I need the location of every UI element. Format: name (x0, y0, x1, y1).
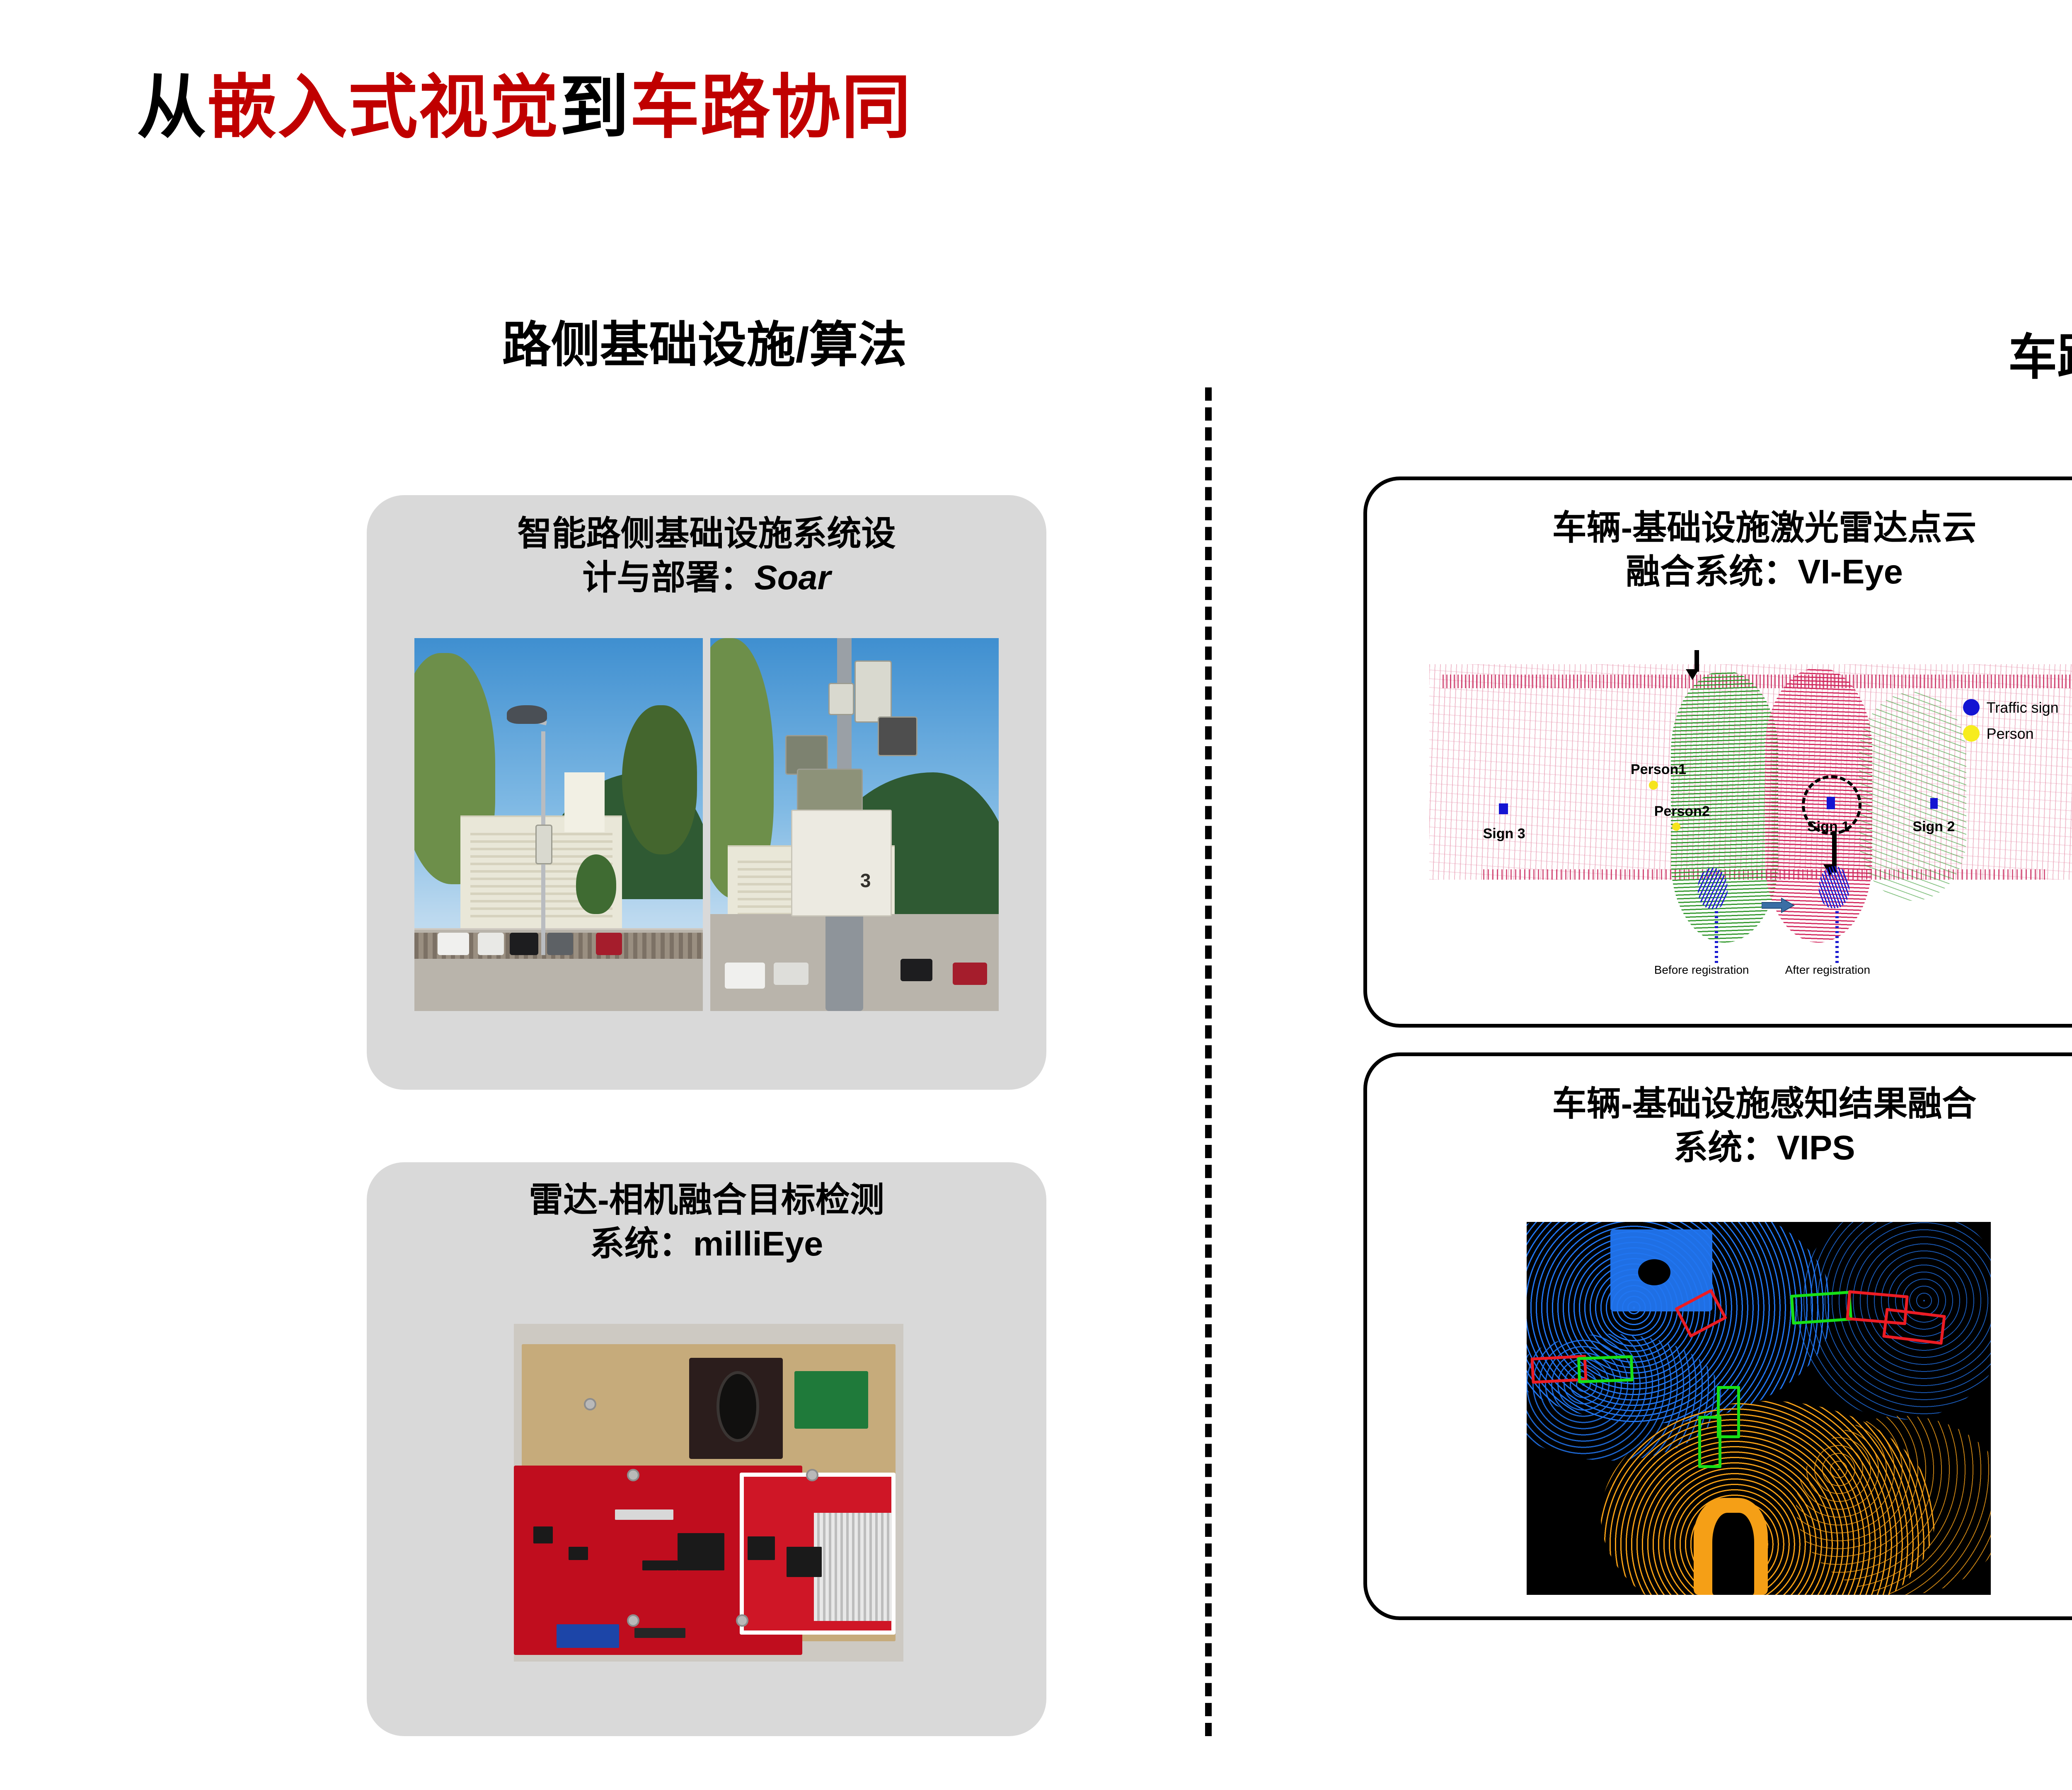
title-part-0: 从 (137, 68, 207, 146)
card-vips[interactable]: 车辆-基础设施感知结果融合 系统：VIPS (1363, 1052, 2072, 1620)
person1-marker (1649, 781, 1658, 790)
card-vips-title-line2: 系统：VIPS (1396, 1126, 2072, 1170)
sign3-marker (1499, 803, 1508, 814)
fused-lidar-detection-figure (1527, 1222, 1991, 1595)
roadside-infrastructure-photos: 3 (414, 638, 999, 1011)
registration-arrow-icon (1762, 897, 1795, 916)
legend-person-dot (1963, 725, 1980, 742)
caption-after-registration: After registration (1785, 963, 1870, 977)
card-vi-eye-title-line1: 车辆-基础设施激光雷达点云 (1396, 506, 2072, 550)
column-divider (1205, 387, 1212, 1736)
card-millieye-title-line1: 雷达-相机融合目标检测 (392, 1178, 1021, 1222)
card-vips-title: 车辆-基础设施感知结果融合 系统：VIPS (1367, 1056, 2072, 1170)
card-millieye-title: 雷达-相机融合目标检测 系统：milliEye (367, 1162, 1046, 1266)
card-vips-system-name: VIPS (1777, 1128, 1855, 1167)
right-column-heading: 车路协同系统 (1782, 327, 2072, 389)
label-person1: Person1 (1631, 762, 1686, 778)
card-millieye-title-line2: 系统：milliEye (392, 1222, 1021, 1266)
label-person2: Person2 (1654, 803, 1710, 820)
radar-camera-hardware-photo (514, 1324, 903, 1662)
card-millieye-system-name: milliEye (693, 1224, 823, 1263)
card-soar-title: 智能路侧基础设施系统设 计与部署：Soar (367, 495, 1046, 600)
before-registration-cloud (1698, 868, 1728, 909)
card-soar[interactable]: 智能路侧基础设施系统设 计与部署：Soar (367, 495, 1046, 1090)
detection-box-matched (1577, 1355, 1634, 1384)
card-vi-eye-title-line2: 融合系统：VI-Eye (1396, 550, 2072, 594)
label-sign-2: Sign 2 (1912, 819, 1955, 835)
title-part-3: 车路协同 (630, 68, 912, 146)
card-millieye[interactable]: 雷达-相机融合目标检测 系统：milliEye (367, 1162, 1046, 1736)
legend-traffic-sign-dot (1963, 699, 1980, 716)
detection-box-matched (1698, 1416, 1721, 1468)
caption-before-registration: Before registration (1654, 963, 1749, 977)
card-soar-title-line2: 计与部署：Soar (392, 556, 1021, 600)
left-column-heading: 路侧基础设施/算法 (356, 315, 1053, 376)
photo-sensor-closeup: 3 (710, 638, 999, 1011)
card-vips-title-line1: 车辆-基础设施感知结果融合 (1396, 1082, 2072, 1126)
page-title: 从嵌入式视觉到车路协同 (137, 73, 912, 142)
after-registration-cloud (1819, 866, 1849, 908)
sign2-marker (1930, 798, 1938, 809)
top-arrow-icon (1694, 650, 1699, 672)
card-soar-system-name: Soar (754, 558, 831, 597)
card-vi-eye-title: 车辆-基础设施激光雷达点云 融合系统：VI-Eye (1367, 480, 2072, 594)
card-vi-eye[interactable]: 车辆-基础设施激光雷达点云 融合系统：VI-Eye Sign 3 Person1… (1363, 477, 2072, 1028)
legend-traffic-sign-label: Traffic sign (1987, 699, 2059, 716)
title-part-2: 到 (559, 68, 630, 146)
label-sign-1: Sign 1 (1807, 819, 1849, 835)
card-vi-eye-system-name: VI-Eye (1798, 552, 1903, 591)
detection-box-matched (1790, 1291, 1852, 1325)
legend-person-label: Person (1987, 725, 2034, 743)
label-sign-3: Sign 3 (1483, 826, 1525, 842)
card-soar-title-line1: 智能路侧基础设施系统设 (392, 512, 1021, 556)
cabinet-number-label: 3 (860, 869, 871, 892)
title-part-1: 嵌入式视觉 (207, 68, 559, 146)
lidar-point-cloud-registration-figure: Sign 3 Person1 Person2 Sign 1 Sign 2 Tra… (1429, 650, 2072, 998)
photo-lamppost-overview (414, 638, 703, 1011)
